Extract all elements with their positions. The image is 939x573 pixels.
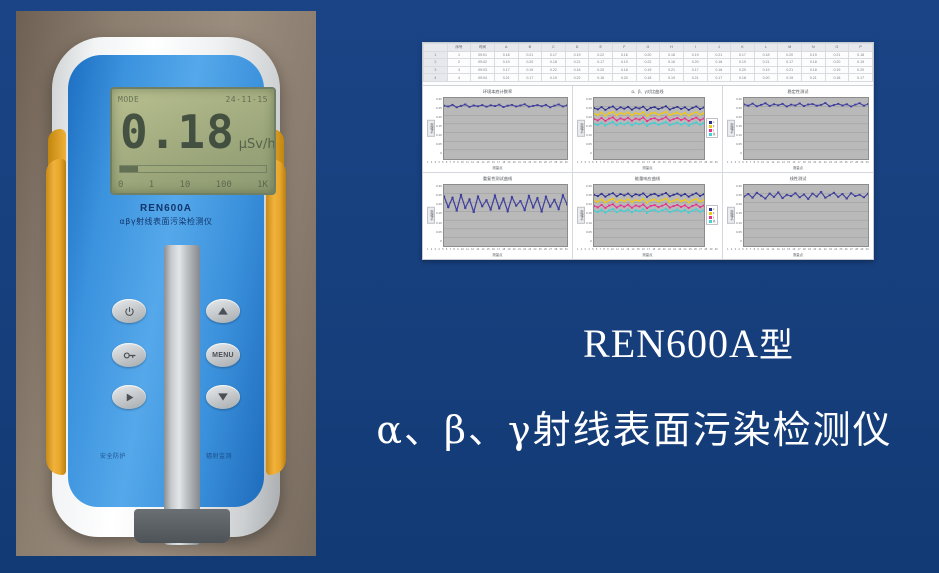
table-cell[interactable]: 0.19 [683, 51, 707, 59]
x-tick-label: 26 [694, 248, 697, 251]
table-cell[interactable]: 0.18 [707, 66, 731, 74]
x-tick-label: 13 [476, 161, 479, 164]
x-tick-label: 14 [482, 161, 485, 164]
lcd-status-left: MODE [118, 95, 139, 104]
data-table: 序号时间ABCDEFGHIJKLMNOP 1109:010.180.210.17… [423, 43, 873, 82]
x-tick-label: 22 [673, 161, 676, 164]
table-cell[interactable]: 0.21 [683, 74, 707, 82]
power-icon [124, 306, 135, 317]
scale-tick: 1K [257, 180, 268, 190]
x-tick-label: 8 [754, 161, 755, 164]
y-tick-label: 0.30 [586, 184, 592, 188]
x-tick-label: 18 [652, 161, 655, 164]
table-cell[interactable]: 0.22 [589, 51, 613, 59]
x-tick-label: 30 [866, 248, 869, 251]
table-cell[interactable]: 0.19 [518, 66, 542, 74]
table-column-header[interactable]: 序号 [447, 44, 471, 52]
x-tick-label: 2 [431, 248, 432, 251]
table-column-header[interactable]: C [542, 44, 566, 52]
x-tick-label: 13 [626, 248, 629, 251]
table-cell[interactable]: 0.18 [802, 66, 826, 74]
x-axis-label: 测量点 [427, 165, 568, 170]
x-tick-label: 6 [596, 248, 597, 251]
table-cell[interactable]: 0.18 [636, 74, 660, 82]
table-row[interactable]: 3309:030.170.190.220.160.200.180.190.210… [424, 66, 873, 74]
y-tick-label: 0.05 [586, 230, 592, 234]
scale-tick: 1 [149, 180, 154, 190]
x-axis-label: 测量点 [727, 165, 869, 170]
x-tick-label: 15 [787, 248, 790, 251]
y-tick-label: 0 [586, 151, 592, 155]
x-tick-label: 9 [607, 248, 608, 251]
table-cell[interactable]: 0.19 [802, 51, 826, 59]
chart-cell[interactable]: 重复性测试曲线计数率0.300.250.200.150.100.05012345… [423, 173, 573, 260]
device-brand-label: REN600A αβγ射线表面污染检测仪 [68, 203, 264, 227]
x-tick-label: 28 [855, 161, 858, 164]
triangle-down-icon [217, 392, 229, 402]
device-model-text: REN600A [68, 203, 264, 214]
title-block: REN600A型 α、β、γ射线表面污染检测仪 [330, 318, 939, 508]
chart-canvas [743, 184, 869, 248]
table-cell[interactable]: 0.19 [778, 74, 802, 82]
table-cell[interactable]: 0.20 [636, 51, 660, 59]
x-tick-label: 29 [710, 161, 713, 164]
table-cell[interactable]: 0.22 [565, 74, 589, 82]
x-tick-label: 11 [766, 161, 769, 164]
table-cell[interactable]: 0.19 [636, 66, 660, 74]
table-cell[interactable]: 09:01 [471, 51, 495, 59]
y-tick-label: 0.05 [436, 142, 442, 146]
y-tick-label: 0.05 [736, 230, 742, 234]
table-column-header[interactable]: 时间 [471, 44, 495, 52]
y-tick-label: 0.10 [736, 221, 742, 225]
table-cell[interactable]: 0.19 [754, 66, 778, 74]
y-tick-label: 0.25 [586, 193, 592, 197]
table-cell[interactable]: 0.17 [707, 74, 731, 82]
table-cell[interactable]: 0.18 [802, 59, 826, 67]
x-tick-label: 22 [523, 248, 526, 251]
table-cell[interactable]: 0.16 [613, 51, 637, 59]
software-screenshot-panel: 序号时间ABCDEFGHIJKLMNOP 1109:010.180.210.17… [422, 42, 874, 260]
chart-title: 稳定性测试 [727, 89, 869, 95]
table-cell[interactable]: 0.18 [542, 59, 566, 67]
y-tick-label: 0.15 [436, 211, 442, 215]
table-cell[interactable]: 0.18 [660, 51, 684, 59]
down-button[interactable] [206, 385, 240, 409]
table-cell[interactable]: 0.20 [754, 74, 778, 82]
table-cell[interactable]: 0.19 [494, 59, 518, 67]
table-cell[interactable]: 0.16 [589, 74, 613, 82]
x-tick-label: 22 [523, 161, 526, 164]
table-cell[interactable]: 0.18 [754, 51, 778, 59]
x-tick-label: 2 [581, 248, 582, 251]
table-cell[interactable]: 2 [447, 59, 471, 67]
table-cell[interactable]: 3 [447, 66, 471, 74]
y-tick-label: 0.05 [586, 142, 592, 146]
legend-swatch [709, 216, 712, 219]
x-tick-label: 3 [435, 161, 436, 164]
table-cell[interactable]: 0.21 [707, 51, 731, 59]
x-tick-label: 3 [585, 161, 586, 164]
table-cell[interactable]: 0.17 [849, 74, 873, 82]
x-tick-label: 1 [727, 248, 728, 251]
table-row[interactable]: 4409:040.210.170.190.220.160.200.180.190… [424, 74, 873, 82]
lcd-scale: 0 1 10 100 1K [118, 180, 268, 190]
y-tick-label: 0.15 [736, 211, 742, 215]
x-tick-label: 20 [513, 161, 516, 164]
x-tick-label: 5 [592, 248, 593, 251]
table-cell[interactable]: 0.21 [494, 74, 518, 82]
chart-canvas [593, 97, 705, 160]
table-column-header[interactable]: H [660, 44, 684, 52]
table-cell[interactable]: 0.20 [683, 59, 707, 67]
y-axis-label: 计数率 [577, 207, 585, 224]
x-tick-label: 10 [611, 161, 614, 164]
x-tick-label: 13 [626, 161, 629, 164]
lcd-display: MODE 24-11-15 0.18 μSv/h 0 1 10 100 1K [110, 87, 276, 195]
x-tick-label: 23 [829, 248, 832, 251]
metal-center-strip [164, 245, 200, 545]
x-tick-label: 13 [476, 248, 479, 251]
table-cell[interactable]: 0.16 [660, 59, 684, 67]
table-row-header: 4 [424, 74, 448, 82]
table-cell[interactable]: 0.19 [613, 59, 637, 67]
x-tick-label: 28 [554, 161, 557, 164]
table-row-header: 1 [424, 51, 448, 59]
x-tick-label: 15 [487, 161, 490, 164]
table-cell[interactable]: 0.19 [565, 51, 589, 59]
table-row[interactable]: 2209:020.190.200.180.210.170.190.220.160… [424, 59, 873, 67]
table-column-header[interactable]: G [636, 44, 660, 52]
scale-tick: 10 [179, 180, 190, 190]
x-tick-label: 8 [603, 161, 604, 164]
x-tick-label: 15 [637, 248, 640, 251]
chart-title: 环境本底计数率 [427, 89, 568, 95]
x-tick-label: 30 [565, 248, 568, 251]
table-cell[interactable]: 0.21 [565, 59, 589, 67]
x-tick-label: 16 [792, 161, 795, 164]
x-tick-label: 15 [637, 161, 640, 164]
x-tick-label: 23 [678, 161, 681, 164]
y-tick-label: 0 [736, 151, 742, 155]
table-column-header[interactable]: J [707, 44, 731, 52]
x-tick-label: 11 [766, 248, 769, 251]
chart-cell[interactable]: α、β、γ对比曲线计数率0.300.250.200.150.100.050αβγ… [573, 86, 723, 173]
x-axis-ticks: 1234567891011121314151617181920212223242… [577, 247, 718, 251]
table-cell[interactable]: 0.17 [518, 74, 542, 82]
y-axis-ticks: 0.300.250.200.150.100.050 [436, 97, 443, 160]
x-tick-label: 3 [585, 248, 586, 251]
x-axis-label: 测量点 [577, 165, 718, 170]
legend-swatch [709, 220, 712, 223]
x-tick-label: 19 [508, 248, 511, 251]
chart-title: 重复性测试曲线 [427, 176, 568, 182]
x-tick-label: 23 [829, 161, 832, 164]
x-tick-label: 27 [699, 161, 702, 164]
legend-item: 总 [709, 219, 716, 223]
x-tick-label: 11 [616, 161, 619, 164]
table-cell[interactable]: 09:02 [471, 59, 495, 67]
table-cell[interactable]: 0.18 [613, 66, 637, 74]
power-button[interactable] [112, 299, 146, 323]
x-tick-label: 9 [757, 161, 758, 164]
x-tick-label: 13 [777, 248, 780, 251]
chart-title: 线性测试 [727, 176, 869, 182]
x-tick-label: 17 [798, 248, 801, 251]
chart-plot-area: 计数率0.300.250.200.150.100.050αβγ总 [577, 97, 718, 160]
scale-tick: 100 [216, 180, 232, 190]
x-axis-ticks: 1234567891011121314151617181920212223242… [577, 160, 718, 164]
table-cell[interactable]: 0.20 [613, 74, 637, 82]
up-button[interactable] [206, 299, 240, 323]
x-tick-label: 18 [652, 248, 655, 251]
table-column-header[interactable]: A [494, 44, 518, 52]
menu-button[interactable]: MENU [206, 343, 240, 367]
table-cell[interactable]: 0.19 [849, 59, 873, 67]
chart-legend: αβγ总 [706, 205, 718, 225]
table-cell[interactable]: 09:04 [471, 74, 495, 82]
y-tick-label: 0.30 [436, 97, 442, 101]
x-tick-label: 2 [731, 161, 732, 164]
table-cell[interactable]: 0.19 [660, 74, 684, 82]
x-tick-label: 10 [461, 161, 464, 164]
x-tick-label: 21 [819, 161, 822, 164]
table-column-header[interactable]: B [518, 44, 542, 52]
table-cell[interactable]: 4 [447, 74, 471, 82]
x-tick-label: 27 [850, 161, 853, 164]
chart-cell[interactable]: 环境本底计数率计数率0.300.250.200.150.100.05012345… [423, 86, 573, 173]
y-tick-label: 0.15 [736, 124, 742, 128]
table-cell[interactable]: 0.20 [731, 66, 755, 74]
table-column-header[interactable]: K [731, 44, 755, 52]
x-tick-label: 24 [534, 248, 537, 251]
table-cell[interactable]: 0.17 [778, 59, 802, 67]
table-cell[interactable]: 0.19 [731, 59, 755, 67]
table-column-header[interactable]: L [754, 44, 778, 52]
x-axis-ticks: 1234567891011121314151617181920212223242… [727, 160, 869, 164]
x-tick-label: 26 [694, 161, 697, 164]
model-suffix-text: 型 [759, 326, 794, 366]
table-cell[interactable]: 0.20 [849, 66, 873, 74]
legend-swatch [709, 133, 712, 136]
x-tick-label: 4 [588, 248, 589, 251]
start-button[interactable] [112, 385, 146, 409]
x-tick-label: 2 [581, 161, 582, 164]
table-row[interactable]: 1109:010.180.210.170.190.220.160.200.180… [424, 51, 873, 59]
chart-cell[interactable]: 稳定性测试计数率0.300.250.200.150.100.0501234567… [723, 86, 873, 173]
x-tick-label: 6 [596, 161, 597, 164]
x-tick-label: 8 [453, 248, 454, 251]
table-column-header[interactable]: E [589, 44, 613, 52]
y-axis-label: 计数率 [427, 120, 435, 137]
table-cell[interactable]: 0.17 [542, 51, 566, 59]
table-cell[interactable]: 0.20 [825, 59, 849, 67]
x-tick-label: 4 [438, 161, 439, 164]
table-cell[interactable]: 0.18 [849, 51, 873, 59]
legend-swatch [709, 129, 712, 132]
table-cell[interactable]: 0.21 [754, 59, 778, 67]
x-tick-label: 16 [642, 248, 645, 251]
x-tick-label: 29 [710, 248, 713, 251]
x-tick-label: 7 [600, 248, 601, 251]
x-tick-label: 24 [834, 248, 837, 251]
legend-swatch [709, 208, 712, 211]
x-tick-label: 21 [518, 248, 521, 251]
x-tick-label: 23 [528, 248, 531, 251]
y-tick-label: 0.25 [736, 106, 742, 110]
x-tick-label: 20 [813, 161, 816, 164]
table-cell[interactable]: 0.20 [589, 66, 613, 74]
y-tick-label: 0.30 [736, 97, 742, 101]
legend-item: 总 [709, 132, 716, 136]
x-tick-label: 24 [834, 161, 837, 164]
table-cell[interactable]: 1 [447, 51, 471, 59]
table-cell[interactable]: 0.22 [636, 59, 660, 67]
chart-cell[interactable]: 能量响应曲线计数率0.300.250.200.150.100.050αβγ总12… [573, 173, 723, 260]
x-tick-label: 25 [840, 248, 843, 251]
x-tick-label: 12 [471, 248, 474, 251]
x-tick-label: 30 [866, 161, 869, 164]
table-column-header[interactable]: D [565, 44, 589, 52]
y-tick-label: 0 [436, 239, 442, 243]
legend-swatch [709, 121, 712, 124]
x-tick-label: 10 [761, 248, 764, 251]
table-cell[interactable]: 0.21 [660, 66, 684, 74]
chart-plot-area: 计数率0.300.250.200.150.100.050 [427, 184, 568, 248]
product-photo: MODE 24-11-15 0.18 μSv/h 0 1 10 100 1K R… [16, 11, 316, 556]
x-tick-label: 12 [621, 161, 624, 164]
key-icon [123, 350, 136, 361]
table-cell[interactable]: 0.22 [542, 66, 566, 74]
table-cell[interactable]: 0.19 [825, 66, 849, 74]
table-cell[interactable]: 0.21 [518, 51, 542, 59]
table-cell[interactable]: 0.17 [589, 59, 613, 67]
table-cell[interactable]: 0.17 [494, 66, 518, 74]
x-tick-label: 29 [560, 161, 563, 164]
x-tick-label: 23 [528, 161, 531, 164]
y-tick-label: 0.15 [436, 124, 442, 128]
y-tick-label: 0.10 [736, 133, 742, 137]
face-note-right: 辐射监测 [206, 451, 232, 460]
x-tick-label: 6 [746, 161, 747, 164]
y-tick-label: 0.05 [736, 142, 742, 146]
table-cell[interactable]: 0.21 [802, 74, 826, 82]
bumper-left [46, 159, 66, 475]
x-tick-label: 13 [777, 161, 780, 164]
x-tick-label: 5 [442, 248, 443, 251]
table-column-header[interactable]: P [849, 44, 873, 52]
y-tick-label: 0.20 [436, 202, 442, 206]
x-tick-label: 6 [746, 248, 747, 251]
table-cell[interactable]: 0.21 [825, 51, 849, 59]
x-axis-ticks: 1234567891011121314151617181920212223242… [427, 247, 568, 251]
x-axis-ticks: 1234567891011121314151617181920212223242… [427, 160, 568, 164]
x-tick-label: 27 [549, 161, 552, 164]
x-axis-label: 测量点 [727, 252, 869, 257]
poster-canvas: MODE 24-11-15 0.18 μSv/h 0 1 10 100 1K R… [0, 0, 939, 573]
x-tick-label: 18 [803, 161, 806, 164]
x-tick-label: 16 [642, 161, 645, 164]
x-tick-label: 19 [808, 161, 811, 164]
x-tick-label: 1 [577, 161, 578, 164]
y-tick-label: 0 [436, 151, 442, 155]
x-tick-label: 28 [704, 161, 707, 164]
y-tick-label: 0.20 [586, 202, 592, 206]
table-column-header[interactable]: F [613, 44, 637, 52]
table-cell[interactable]: 0.17 [731, 51, 755, 59]
x-tick-label: 9 [607, 161, 608, 164]
x-tick-label: 30 [715, 161, 718, 164]
chart-canvas [743, 97, 869, 160]
legend-swatch [709, 212, 712, 215]
x-tick-label: 3 [735, 248, 736, 251]
table-cell[interactable]: 0.18 [494, 51, 518, 59]
table-column-header[interactable]: N [802, 44, 826, 52]
x-tick-label: 14 [632, 161, 635, 164]
x-axis-label: 测量点 [577, 252, 718, 257]
table-column-header[interactable]: M [778, 44, 802, 52]
table-cell[interactable]: 0.17 [683, 66, 707, 74]
chart-plot-area: 计数率0.300.250.200.150.100.050 [727, 184, 869, 248]
table-column-header[interactable]: I [683, 44, 707, 52]
triangle-up-icon [217, 306, 229, 316]
chart-plot-area: 计数率0.300.250.200.150.100.050αβγ总 [577, 184, 718, 248]
x-tick-label: 11 [616, 248, 619, 251]
device-subtitle-text: αβγ射线表面污染检测仪 [68, 216, 264, 227]
x-tick-label: 1 [727, 161, 728, 164]
x-tick-label: 25 [689, 161, 692, 164]
x-tick-label: 6 [446, 248, 447, 251]
chart-canvas [443, 184, 568, 248]
x-tick-label: 11 [466, 248, 469, 251]
lcd-status-right: 24-11-15 [225, 95, 268, 104]
x-tick-label: 12 [471, 161, 474, 164]
backlight-button[interactable] [112, 343, 146, 367]
x-tick-label: 15 [787, 161, 790, 164]
x-tick-label: 17 [798, 161, 801, 164]
x-tick-label: 29 [560, 248, 563, 251]
y-axis-ticks: 0.300.250.200.150.100.050 [736, 184, 743, 248]
table-cell[interactable]: 0.20 [778, 51, 802, 59]
chart-cell[interactable]: 线性测试计数率0.300.250.200.150.100.05012345678… [723, 173, 873, 260]
x-tick-label: 18 [502, 161, 505, 164]
table-column-header[interactable]: O [825, 44, 849, 52]
x-tick-label: 26 [845, 161, 848, 164]
x-tick-label: 30 [565, 161, 568, 164]
x-tick-label: 18 [803, 248, 806, 251]
x-tick-label: 27 [699, 248, 702, 251]
table-cell[interactable]: 0.16 [565, 66, 589, 74]
lcd-value: 0.18 [120, 109, 235, 155]
table-cell[interactable]: 0.18 [731, 74, 755, 82]
chart-grid: 环境本底计数率计数率0.300.250.200.150.100.05012345… [423, 86, 873, 259]
y-tick-label: 0.30 [586, 97, 592, 101]
x-tick-label: 30 [715, 248, 718, 251]
legend-label: 总 [713, 219, 716, 223]
table-cell[interactable]: 09:03 [471, 66, 495, 74]
x-tick-label: 14 [482, 248, 485, 251]
bumper-right [266, 159, 286, 475]
x-tick-label: 16 [492, 248, 495, 251]
table-cell[interactable]: 0.21 [778, 66, 802, 74]
table-cell[interactable]: 0.20 [518, 59, 542, 67]
table-cell[interactable]: 0.19 [542, 74, 566, 82]
y-tick-label: 0.10 [586, 133, 592, 137]
table-cell[interactable]: 0.18 [825, 74, 849, 82]
face-note-left: 安全防护 [100, 451, 126, 460]
x-tick-label: 5 [742, 248, 743, 251]
table-cell[interactable]: 0.18 [707, 59, 731, 67]
